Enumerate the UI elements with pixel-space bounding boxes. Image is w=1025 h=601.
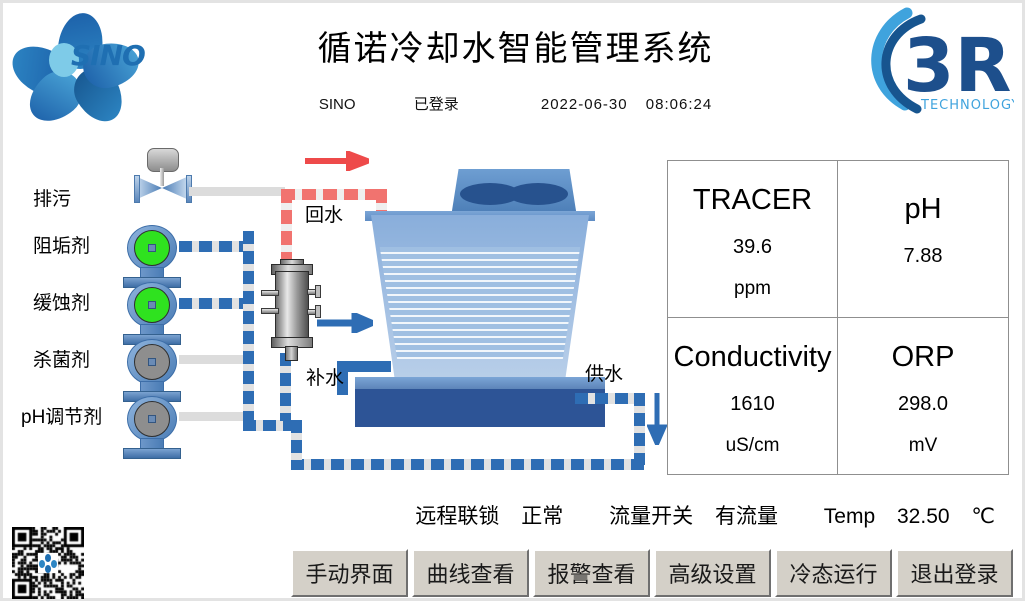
advanced-settings-button[interactable]: 高级设置 bbox=[654, 549, 771, 597]
return-pipe-vertical-left bbox=[281, 189, 292, 265]
measurement-unit: uS/cm bbox=[726, 436, 780, 455]
pump-inhibitor[interactable] bbox=[121, 282, 181, 344]
supply-flow-arrow bbox=[647, 393, 667, 450]
vessel-port-left-lower bbox=[261, 308, 279, 314]
measurement-value: 7.88 bbox=[904, 246, 943, 266]
chem-main-line-vertical bbox=[243, 231, 254, 431]
tower-louvers bbox=[371, 247, 589, 359]
measurement-name: TRACER bbox=[693, 186, 812, 215]
remote-interlock-value: 正常 bbox=[521, 500, 563, 530]
pump-biocide[interactable] bbox=[121, 339, 181, 401]
measurement-cell-tracer[interactable]: TRACER 39.6 ppm bbox=[668, 161, 838, 318]
chem-main-line-bottom bbox=[243, 420, 291, 431]
equipment-label-inhibitor: 缓蚀剂 bbox=[33, 288, 90, 315]
manual-interface-button[interactable]: 手动界面 bbox=[291, 549, 408, 597]
pump-hub-icon bbox=[148, 358, 156, 366]
header-time: 08:06:24 bbox=[646, 96, 712, 113]
analyzer-vessel[interactable] bbox=[269, 259, 313, 359]
supply-pipe-bottom bbox=[291, 459, 644, 470]
tower-fan-blade-right bbox=[508, 183, 568, 205]
temp-value: 32.50 bbox=[897, 505, 950, 529]
measurement-unit: ppm bbox=[734, 279, 771, 298]
measurement-value: 298.0 bbox=[898, 394, 948, 414]
measurement-panel: TRACER 39.6 ppm pH 7.88 Conductivity 161… bbox=[667, 160, 1009, 475]
pump-hub-icon bbox=[148, 244, 156, 252]
cooling-tower[interactable] bbox=[343, 169, 609, 424]
equipment-label-antiscalant: 阻垢剂 bbox=[33, 231, 90, 258]
supply-pipe-left-vertical bbox=[291, 420, 302, 465]
header-login-status: 已登录 bbox=[414, 93, 459, 114]
tower-basin bbox=[355, 389, 605, 427]
measurement-name: Conductivity bbox=[674, 343, 832, 372]
vessel-outlet-icon bbox=[285, 346, 298, 361]
chem-line-biocide bbox=[179, 355, 249, 364]
measurement-cell-orp[interactable]: ORP 298.0 mV bbox=[838, 318, 1008, 475]
flow-switch-value: 有流量 bbox=[715, 500, 778, 530]
valve-flange-left bbox=[134, 175, 140, 203]
pump-hub-icon bbox=[148, 415, 156, 423]
valve-stem-icon bbox=[160, 168, 164, 186]
qr-center-logo bbox=[38, 553, 58, 573]
measurement-value: 39.6 bbox=[733, 237, 772, 257]
equipment-label-ph-adjust: pH调节剂 bbox=[21, 402, 102, 429]
measurement-value: 1610 bbox=[730, 394, 775, 414]
return-water-label: 回水 bbox=[305, 200, 343, 227]
makeup-water-label: 补水 bbox=[306, 363, 344, 390]
flow-switch-label: 流量开关 bbox=[609, 500, 693, 530]
pump-antiscalant[interactable] bbox=[121, 225, 181, 287]
blowdown-pipe bbox=[189, 187, 285, 196]
measurement-name: ORP bbox=[892, 343, 955, 372]
trend-view-button[interactable]: 曲线查看 bbox=[412, 549, 529, 597]
vessel-body-icon bbox=[275, 271, 309, 339]
header-date: 2022-06-30 bbox=[541, 96, 628, 113]
vessel-port-left-upper bbox=[261, 290, 279, 296]
valve-body-right bbox=[162, 176, 189, 200]
remote-interlock-label: 远程联锁 bbox=[415, 500, 499, 530]
pump-hub-icon bbox=[148, 301, 156, 309]
logout-button[interactable]: 退出登录 bbox=[896, 549, 1013, 597]
measurement-cell-conductivity[interactable]: Conductivity 1610 uS/cm bbox=[668, 318, 838, 475]
bottom-status-bar: 远程联锁 正常 流量开关 有流量 Temp 32.50 ℃ bbox=[3, 500, 1013, 530]
measurement-name: pH bbox=[904, 195, 941, 224]
alarm-view-button[interactable]: 报警查看 bbox=[533, 549, 650, 597]
measurement-cell-ph[interactable]: pH 7.88 bbox=[838, 161, 1008, 318]
toolbar: 手动界面 曲线查看 报警查看 高级设置 冷态运行 退出登录 bbox=[291, 549, 1013, 597]
blowdown-valve[interactable] bbox=[131, 148, 193, 206]
chem-line-antiscalant bbox=[179, 241, 249, 252]
page-title: 循诺冷却水智能管理系统 bbox=[3, 21, 1025, 70]
temp-label: Temp bbox=[824, 505, 875, 529]
qr-code[interactable] bbox=[12, 527, 84, 599]
temp-unit: ℃ bbox=[971, 504, 995, 529]
chem-line-ph-adjust bbox=[179, 412, 249, 421]
supply-pipe-right-vertical bbox=[634, 393, 645, 465]
vessel-outlet-line bbox=[280, 353, 291, 421]
equipment-label-biocide: 杀菌剂 bbox=[33, 345, 90, 372]
header-user: SINO bbox=[319, 96, 356, 113]
vessel-flange-right-upper bbox=[315, 285, 321, 298]
equipment-label-blowdown: 排污 bbox=[33, 184, 71, 211]
header-status-line: SINO 已登录 2022-06-30 08:06:24 bbox=[3, 93, 1025, 114]
cold-start-button[interactable]: 冷态运行 bbox=[775, 549, 892, 597]
pump-ph-adjust[interactable] bbox=[121, 396, 181, 458]
chem-line-inhibitor bbox=[179, 298, 249, 309]
measurement-unit: mV bbox=[909, 436, 938, 455]
pump-base-icon bbox=[123, 448, 181, 459]
hmi-screen: SINO 3R TECHNOLOGY 循诺冷却水智能管理系统 SINO 已登录 … bbox=[0, 0, 1025, 601]
supply-water-label: 供水 bbox=[585, 359, 623, 386]
